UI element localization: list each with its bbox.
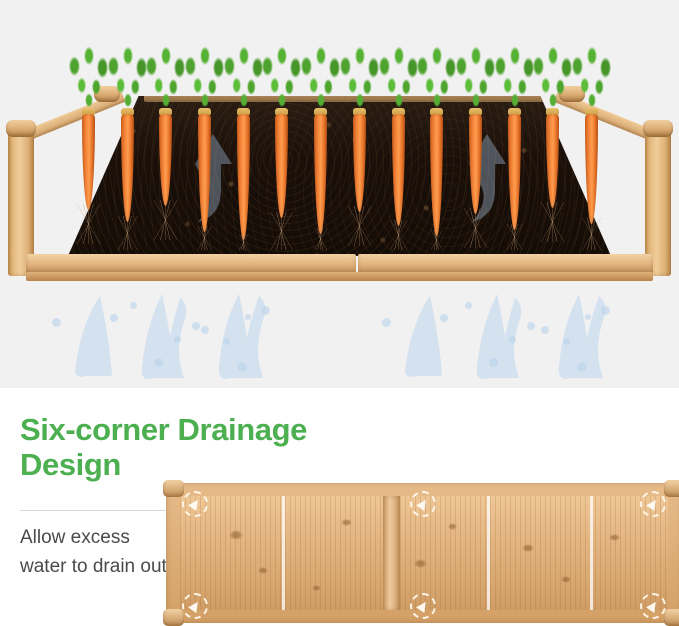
water-droplet — [489, 358, 498, 367]
wood-knot — [522, 544, 534, 552]
water-droplet — [382, 318, 391, 327]
base-rail — [26, 272, 653, 281]
water-droplet — [585, 314, 591, 320]
front-rail-right-section — [358, 254, 653, 274]
carrot-root — [508, 114, 521, 230]
hero-illustration-panel: Cutaway illustration of a wooden raised … — [0, 0, 679, 388]
water-droplet — [541, 326, 549, 334]
water-splash — [215, 292, 273, 382]
drainage-hole-marker-bottom-center — [410, 593, 436, 619]
drainage-arrow-icon — [188, 497, 202, 511]
wood-knot — [341, 519, 352, 527]
splash-shape — [475, 292, 533, 382]
carrot-root — [430, 114, 443, 236]
water-droplet — [237, 362, 247, 372]
drainage-hole-marker-bottom-right — [640, 593, 666, 619]
carrot-root — [469, 114, 482, 214]
water-droplet — [509, 336, 516, 343]
water-droplet — [110, 314, 118, 322]
carrot-root — [353, 114, 366, 212]
wood-knot — [561, 576, 571, 583]
wood-knot — [258, 567, 268, 574]
product-feature-infographic: Cutaway illustration of a wooden raised … — [0, 0, 679, 623]
drainage-hole-marker-top-right — [640, 491, 666, 517]
heading-divider — [20, 510, 178, 511]
carrot-root — [159, 114, 172, 206]
raised-garden-bed-cutaway — [8, 96, 671, 281]
hero-illustration-alt: Cutaway illustration of a wooden raised … — [0, 0, 1, 1]
carrot-plant-row — [68, 44, 611, 256]
water-droplet — [174, 336, 181, 343]
wood-knot — [312, 585, 321, 591]
water-splash — [140, 292, 198, 382]
water-droplet — [130, 302, 137, 309]
front-rail-left-section — [26, 254, 356, 274]
water-droplet — [245, 314, 251, 320]
feature-body-text: Allow excess water to drain out — [20, 523, 180, 581]
underside-corner-top-left — [163, 480, 184, 497]
wood-knot — [414, 559, 427, 568]
water-splash — [475, 292, 533, 382]
water-droplet — [223, 338, 230, 345]
carrot-root — [198, 114, 211, 232]
base-slat-seam — [282, 496, 285, 610]
underside-corner-top-right — [664, 480, 679, 497]
feature-description-panel: Six-corner Drainage Design Allow excess … — [0, 388, 679, 623]
water-droplet — [577, 362, 587, 372]
feature-heading: Six-corner Drainage Design — [20, 412, 390, 482]
water-splash — [400, 292, 458, 382]
splash-shape — [400, 292, 458, 382]
wood-knot — [229, 530, 243, 540]
carrot-root — [585, 114, 598, 224]
carrot-root — [392, 114, 405, 226]
drainage-arrow-icon — [188, 599, 202, 613]
wood-knot — [609, 534, 620, 542]
carrot-root — [237, 114, 250, 240]
drainage-hole-marker-top-center — [410, 491, 436, 517]
splash-shape — [70, 292, 128, 382]
water-splash — [555, 292, 613, 382]
drainage-arrow-icon — [416, 497, 430, 511]
water-droplet — [261, 306, 270, 315]
post-cap-front-right — [643, 120, 673, 137]
underside-corner-bottom-left — [163, 609, 184, 626]
carrot-fibrous-roots — [569, 218, 615, 250]
water-droplet — [601, 306, 610, 315]
water-droplet — [154, 358, 163, 367]
drainage-hole-marker-bottom-left — [182, 593, 208, 619]
water-splash — [70, 292, 128, 382]
water-droplet — [527, 322, 535, 330]
carrot-root — [82, 114, 95, 210]
planter-underside-photo: Underside view of the wooden raised gard… — [166, 483, 679, 623]
carrot-root — [275, 114, 288, 218]
carrot-root — [121, 114, 134, 222]
water-droplet — [465, 302, 472, 309]
water-droplet — [52, 318, 61, 327]
water-droplet — [563, 338, 570, 345]
base-slat-seam — [487, 496, 490, 610]
drainage-hole-marker-top-left — [182, 491, 208, 517]
drainage-arrow-icon — [646, 599, 660, 613]
water-droplet — [201, 326, 209, 334]
carrot-root — [546, 114, 559, 208]
drainage-arrow-icon — [416, 599, 430, 613]
drainage-arrow-icon — [646, 497, 660, 511]
center-support-rail — [383, 496, 400, 610]
carrot-root — [314, 114, 327, 234]
post-cap-front-left — [6, 120, 36, 137]
water-droplet — [192, 322, 200, 330]
splash-shape — [140, 292, 198, 382]
wood-knot — [448, 523, 457, 529]
carrot-foliage — [566, 44, 618, 118]
base-slat-seam — [590, 496, 593, 610]
water-droplet — [440, 314, 448, 322]
underside-corner-bottom-right — [664, 609, 679, 626]
